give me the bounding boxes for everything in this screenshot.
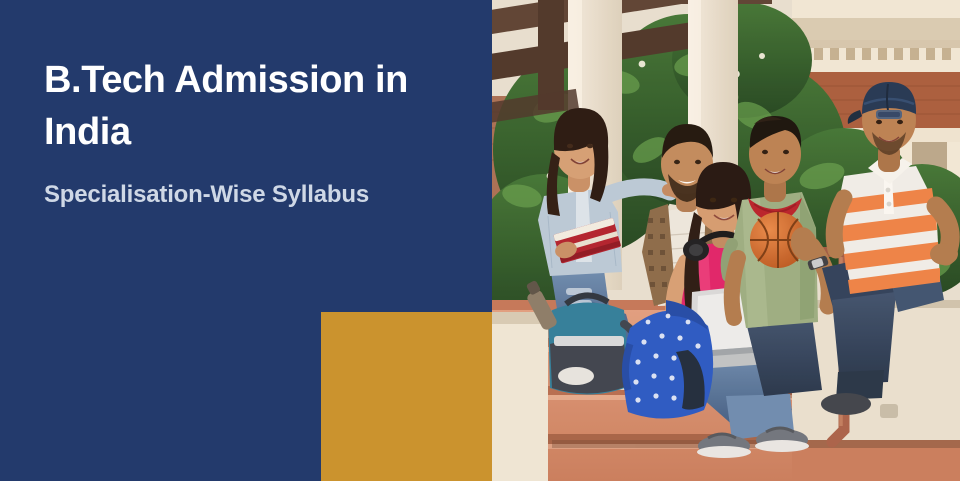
promo-banner: B.Tech Admission in India Specialisation… [0,0,960,481]
students-photo [492,0,960,481]
gold-accent-block [321,312,492,481]
banner-text-group: B.Tech Admission in India Specialisation… [44,54,474,210]
page-subtitle: Specialisation-Wise Syllabus [44,180,474,210]
page-title: B.Tech Admission in India [44,54,474,158]
